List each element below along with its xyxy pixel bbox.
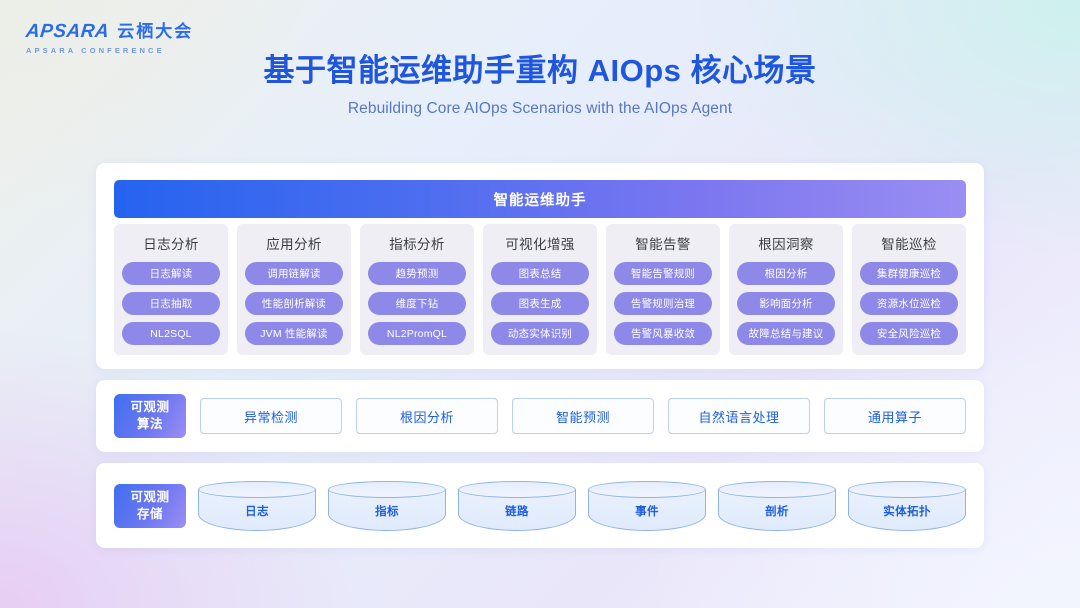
- scenario-capability-pill[interactable]: 图表总结: [491, 262, 589, 285]
- cylinder-top-icon: [458, 481, 576, 498]
- scenario-column-title: 智能巡检: [881, 233, 937, 253]
- algorithm-chip[interactable]: 自然语言处理: [668, 398, 810, 434]
- scenario-capability-pill[interactable]: 动态实体识别: [491, 322, 589, 345]
- storage-row: 可观测 存储 日志指标链路事件剖析实体拓扑: [114, 480, 966, 532]
- scenario-column-title: 根因洞察: [758, 233, 814, 253]
- logo-wordmark-en: APSARA: [25, 22, 110, 41]
- scenario-column: 指标分析趋势预测维度下钻NL2PromQL: [360, 224, 474, 355]
- scenario-capability-pill[interactable]: 图表生成: [491, 292, 589, 315]
- algorithm-chip[interactable]: 通用算子: [824, 398, 966, 434]
- storage-cylinder-label: 剖析: [718, 503, 836, 519]
- scenarios-panel: 智能运维助手 日志分析日志解读日志抽取NL2SQL应用分析调用链解读性能剖析解读…: [96, 163, 984, 369]
- storage-cylinder-list: 日志指标链路事件剖析实体拓扑: [198, 481, 966, 531]
- scenario-capability-pill[interactable]: 维度下钻: [368, 292, 466, 315]
- apsara-logo: APSARA 云栖大会 APSARA CONFERENCE: [26, 22, 193, 55]
- storage-cylinder[interactable]: 日志: [198, 481, 316, 531]
- algorithm-chip[interactable]: 异常检测: [200, 398, 342, 434]
- scenario-column: 根因洞察根因分析影响面分析故障总结与建议: [729, 224, 843, 355]
- slide-heading: 基于智能运维助手重构 AIOps 核心场景 Rebuilding Core AI…: [0, 52, 1080, 118]
- algorithms-panel: 可观测 算法 异常检测根因分析智能预测自然语言处理通用算子: [96, 380, 984, 452]
- scenario-column-title: 指标分析: [389, 233, 445, 253]
- storage-cylinder-label: 链路: [458, 503, 576, 519]
- assistant-banner-label: 智能运维助手: [494, 189, 587, 210]
- scenario-capability-pill[interactable]: 根因分析: [737, 262, 835, 285]
- assistant-banner: 智能运维助手: [114, 180, 966, 218]
- storage-cylinder-label: 事件: [588, 503, 706, 519]
- scenario-capability-pill[interactable]: 资源水位巡检: [860, 292, 958, 315]
- scenario-column: 应用分析调用链解读性能剖析解读JVM 性能解读: [237, 224, 351, 355]
- scenario-capability-pill[interactable]: 智能告警规则: [614, 262, 712, 285]
- storage-cylinder-label: 指标: [328, 503, 446, 519]
- scenario-capability-pill[interactable]: JVM 性能解读: [245, 322, 343, 345]
- scenario-column-title: 智能告警: [635, 233, 691, 253]
- scenario-capability-pill[interactable]: 安全风险巡检: [860, 322, 958, 345]
- cylinder-top-icon: [848, 481, 966, 498]
- scenario-column: 智能巡检集群健康巡检资源水位巡检安全风险巡检: [852, 224, 966, 355]
- algorithms-badge: 可观测 算法: [114, 394, 186, 438]
- algorithm-chip[interactable]: 智能预测: [512, 398, 654, 434]
- scenario-capability-pill[interactable]: 性能剖析解读: [245, 292, 343, 315]
- scenario-capability-pill[interactable]: 调用链解读: [245, 262, 343, 285]
- scenario-capability-pill[interactable]: NL2SQL: [122, 322, 220, 345]
- scenario-column: 智能告警智能告警规则告警规则治理告警风暴收敛: [606, 224, 720, 355]
- scenario-capability-pill[interactable]: 集群健康巡检: [860, 262, 958, 285]
- scenario-column-title: 应用分析: [266, 233, 322, 253]
- algorithms-badge-line1: 可观测: [130, 399, 169, 416]
- scenario-capability-pill[interactable]: 告警规则治理: [614, 292, 712, 315]
- scenario-column-list: 日志分析日志解读日志抽取NL2SQL应用分析调用链解读性能剖析解读JVM 性能解…: [114, 224, 966, 355]
- scenario-capability-pill[interactable]: NL2PromQL: [368, 322, 466, 345]
- storage-cylinder-label: 日志: [198, 503, 316, 519]
- page-subtitle: Rebuilding Core AIOps Scenarios with the…: [0, 100, 1080, 118]
- scenario-capability-pill[interactable]: 故障总结与建议: [737, 322, 835, 345]
- storage-cylinder[interactable]: 事件: [588, 481, 706, 531]
- scenario-capability-pill[interactable]: 告警风暴收敛: [614, 322, 712, 345]
- algorithms-row: 可观测 算法 异常检测根因分析智能预测自然语言处理通用算子: [114, 394, 966, 438]
- algorithms-badge-line2: 算法: [137, 416, 163, 433]
- storage-badge-line1: 可观测: [130, 489, 169, 506]
- scenario-capability-pill[interactable]: 日志解读: [122, 262, 220, 285]
- storage-cylinder[interactable]: 链路: [458, 481, 576, 531]
- scenario-column: 日志分析日志解读日志抽取NL2SQL: [114, 224, 228, 355]
- cylinder-top-icon: [718, 481, 836, 498]
- page-title: 基于智能运维助手重构 AIOps 核心场景: [0, 52, 1080, 91]
- scenario-column-title: 可视化增强: [505, 233, 575, 253]
- algorithm-chip[interactable]: 根因分析: [356, 398, 498, 434]
- storage-panel: 可观测 存储 日志指标链路事件剖析实体拓扑: [96, 463, 984, 548]
- storage-cylinder[interactable]: 实体拓扑: [848, 481, 966, 531]
- cylinder-top-icon: [198, 481, 316, 498]
- scenario-column: 可视化增强图表总结图表生成动态实体识别: [483, 224, 597, 355]
- logo-wordmark-cn: 云栖大会: [117, 23, 193, 40]
- scenario-column-title: 日志分析: [143, 233, 199, 253]
- cylinder-top-icon: [588, 481, 706, 498]
- scenario-capability-pill[interactable]: 日志抽取: [122, 292, 220, 315]
- storage-badge: 可观测 存储: [114, 484, 186, 528]
- storage-cylinder[interactable]: 剖析: [718, 481, 836, 531]
- cylinder-top-icon: [328, 481, 446, 498]
- storage-badge-line2: 存储: [137, 506, 163, 523]
- storage-cylinder-label: 实体拓扑: [848, 503, 966, 519]
- scenario-capability-pill[interactable]: 趋势预测: [368, 262, 466, 285]
- storage-cylinder[interactable]: 指标: [328, 481, 446, 531]
- logo-primary-row: APSARA 云栖大会: [26, 22, 193, 41]
- scenario-capability-pill[interactable]: 影响面分析: [737, 292, 835, 315]
- algorithm-chip-list: 异常检测根因分析智能预测自然语言处理通用算子: [200, 398, 966, 434]
